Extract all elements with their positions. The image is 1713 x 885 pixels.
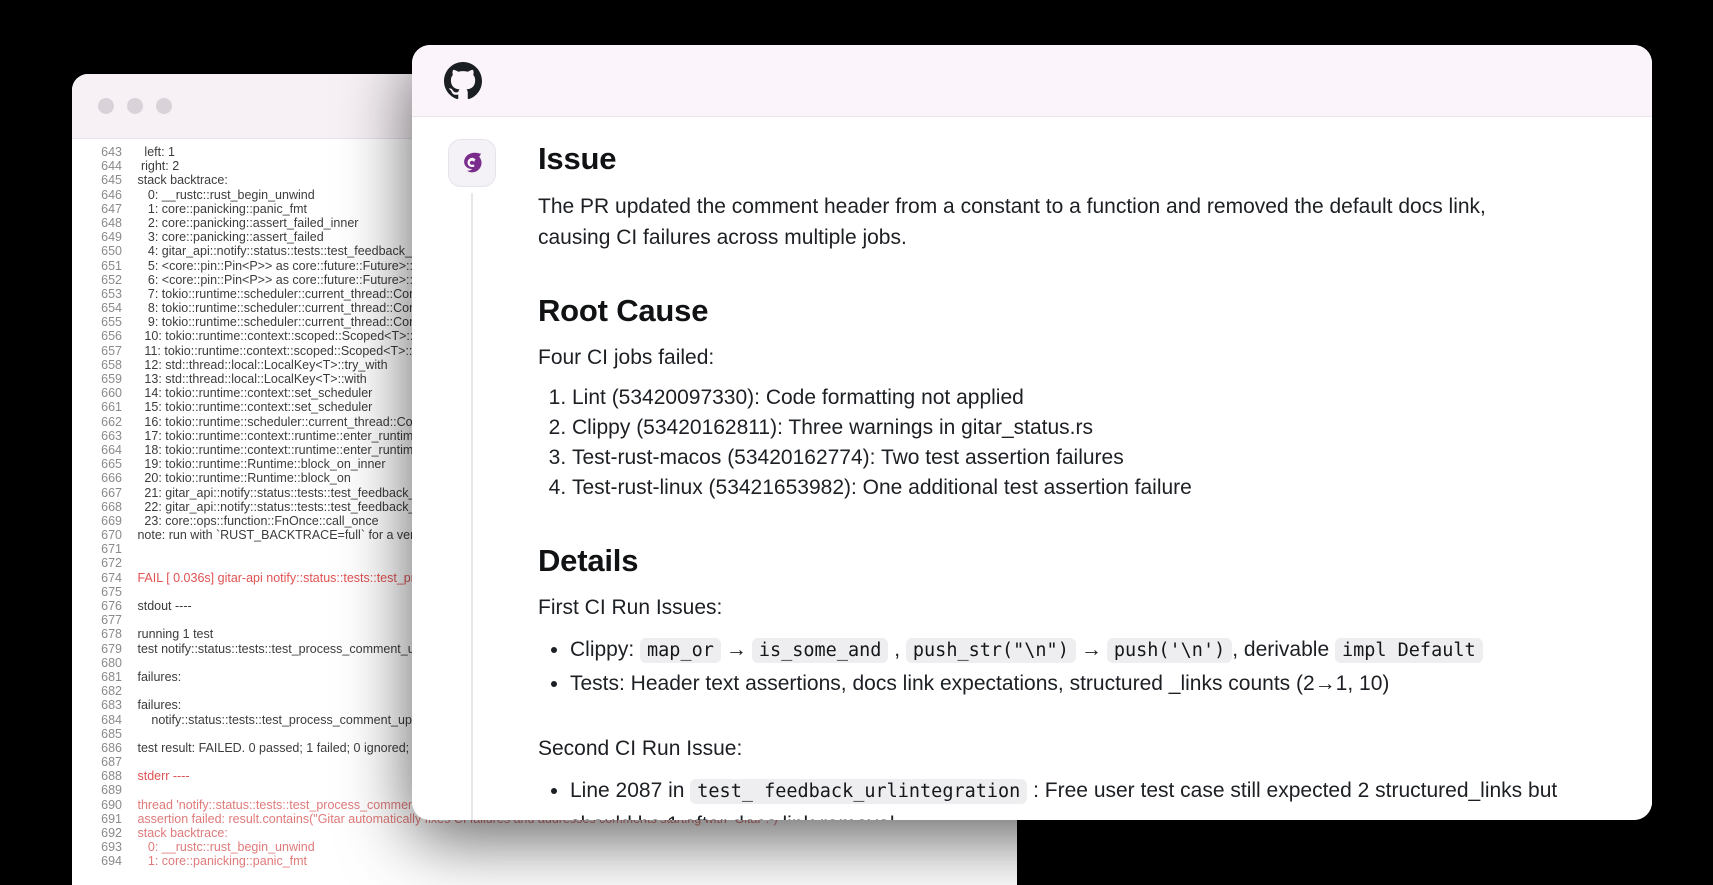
failed-job-item: Lint (53420097330): Code formatting not …	[572, 383, 1592, 413]
log-line-number: 668	[72, 500, 134, 514]
log-line-number: 693	[72, 840, 134, 854]
log-line-number: 660	[72, 386, 134, 400]
log-line-number: 686	[72, 741, 134, 755]
log-line-number: 646	[72, 188, 134, 202]
log-line-number: 645	[72, 173, 134, 187]
log-line-text: 0: __rustc::rust_begin_unwind	[134, 840, 1017, 854]
log-line: 692 stack backtrace:	[72, 826, 1017, 840]
issue-thread: Issue The PR updated the comment header …	[412, 139, 1652, 820]
inline-code: test_ feedback_urlintegration	[690, 779, 1027, 804]
log-line-number: 679	[72, 642, 134, 656]
screen: 643 left: 1644 right: 2645 stack backtra…	[0, 0, 1713, 885]
bullet-text: Clippy:	[570, 638, 640, 661]
log-line-number: 657	[72, 344, 134, 358]
log-line-number: 651	[72, 259, 134, 273]
failed-job-item: Test-rust-linux (53421653982): One addit…	[572, 473, 1592, 503]
log-line-number: 694	[72, 854, 134, 868]
inline-code: push_str("\n")	[906, 638, 1076, 663]
arrow-glyph: →	[1076, 638, 1107, 661]
log-line-number: 667	[72, 486, 134, 500]
gitar-bot-avatar-icon[interactable]	[448, 139, 496, 187]
log-line-number: 671	[72, 542, 134, 556]
section-heading-issue: Issue	[538, 141, 1592, 177]
log-line-number: 652	[72, 273, 134, 287]
log-line-number: 654	[72, 301, 134, 315]
section-heading-details: Details	[538, 543, 1592, 579]
failed-job-item: Test-rust-macos (53420162774): Two test …	[572, 443, 1592, 473]
section-heading-root-cause: Root Cause	[538, 293, 1592, 329]
issue-summary-paragraph: The PR updated the comment header from a…	[538, 191, 1548, 253]
log-line-number: 643	[72, 145, 134, 159]
close-icon[interactable]	[98, 98, 114, 114]
details-group-lead: First CI Run Issues:	[538, 593, 1592, 623]
log-line-number: 659	[72, 372, 134, 386]
thread-rail	[471, 193, 473, 820]
log-line-number: 690	[72, 798, 134, 812]
log-line-number: 650	[72, 244, 134, 258]
log-line-number: 661	[72, 400, 134, 414]
inline-code: impl Default	[1335, 638, 1483, 663]
log-line-number: 674	[72, 571, 134, 585]
bullet-text: ,	[888, 638, 906, 661]
log-line-number: 658	[72, 358, 134, 372]
log-line-number: 684	[72, 713, 134, 727]
details-bullet-item: Clippy: map_or→is_some_and , push_str("\…	[570, 633, 1592, 667]
details-group-lead: Second CI Run Issue:	[538, 734, 1592, 764]
root-cause-lead: Four CI jobs failed:	[538, 343, 1592, 373]
log-line-number: 648	[72, 216, 134, 230]
minimize-icon[interactable]	[127, 98, 143, 114]
log-line-number: 663	[72, 429, 134, 443]
log-line-number: 683	[72, 698, 134, 712]
log-line-number: 669	[72, 514, 134, 528]
log-line-number: 687	[72, 755, 134, 769]
log-line-number: 649	[72, 230, 134, 244]
log-line-number: 682	[72, 684, 134, 698]
log-line-number: 656	[72, 329, 134, 343]
inline-code: push('\n')	[1107, 638, 1232, 663]
details-bullet-item: Tests: Header text assertions, docs link…	[570, 667, 1592, 700]
log-line-number: 681	[72, 670, 134, 684]
inline-code: map_or	[640, 638, 721, 663]
log-line-number: 680	[72, 656, 134, 670]
log-line-number: 662	[72, 415, 134, 429]
inline-code: is_some_and	[752, 638, 889, 663]
failed-job-item: Clippy (53420162811): Three warnings in …	[572, 413, 1592, 443]
log-line-text: 1: core::panicking::panic_fmt	[134, 854, 1017, 868]
log-line-number: 692	[72, 826, 134, 840]
log-line: 693 0: __rustc::rust_begin_unwind	[72, 840, 1017, 854]
log-line-number: 678	[72, 627, 134, 641]
issue-markdown: Issue The PR updated the comment header …	[500, 139, 1652, 820]
log-line-number: 676	[72, 599, 134, 613]
log-line-number: 670	[72, 528, 134, 542]
zoom-icon[interactable]	[156, 98, 172, 114]
details-groups: First CI Run Issues:Clippy: map_or→is_so…	[538, 593, 1592, 820]
bullet-text: Line 2087 in	[570, 779, 690, 802]
arrow-glyph: →	[721, 638, 752, 661]
log-line-number: 685	[72, 727, 134, 741]
log-line-number: 675	[72, 585, 134, 599]
log-line-number: 691	[72, 812, 134, 826]
log-line-number: 647	[72, 202, 134, 216]
bullet-text: , derivable	[1232, 638, 1335, 661]
details-bullet-item: Line 2087 in test_ feedback_urlintegrati…	[570, 774, 1592, 820]
github-issue-panel[interactable]: Issue The PR updated the comment header …	[412, 45, 1652, 820]
details-bullet-list: Line 2087 in test_ feedback_urlintegrati…	[538, 774, 1592, 820]
log-line-text: stack backtrace:	[134, 826, 1017, 840]
log-line: 694 1: core::panicking::panic_fmt	[72, 854, 1017, 868]
bullet-text: Tests: Header text assertions, docs link…	[570, 672, 1389, 695]
panel-titlebar	[412, 45, 1652, 117]
log-line-number: 664	[72, 443, 134, 457]
failed-jobs-list: Lint (53420097330): Code formatting not …	[538, 383, 1592, 503]
github-mark-icon[interactable]	[444, 62, 482, 100]
issue-body: Issue The PR updated the comment header …	[412, 117, 1652, 820]
avatar-column	[444, 139, 500, 820]
log-line-number: 653	[72, 287, 134, 301]
log-line-number: 672	[72, 556, 134, 570]
log-line-number: 644	[72, 159, 134, 173]
log-line-number: 677	[72, 613, 134, 627]
details-bullet-list: Clippy: map_or→is_some_and , push_str("\…	[538, 633, 1592, 700]
log-line-number: 665	[72, 457, 134, 471]
log-line-number: 655	[72, 315, 134, 329]
log-line-number: 689	[72, 783, 134, 797]
log-line-number: 666	[72, 471, 134, 485]
log-line-number: 688	[72, 769, 134, 783]
